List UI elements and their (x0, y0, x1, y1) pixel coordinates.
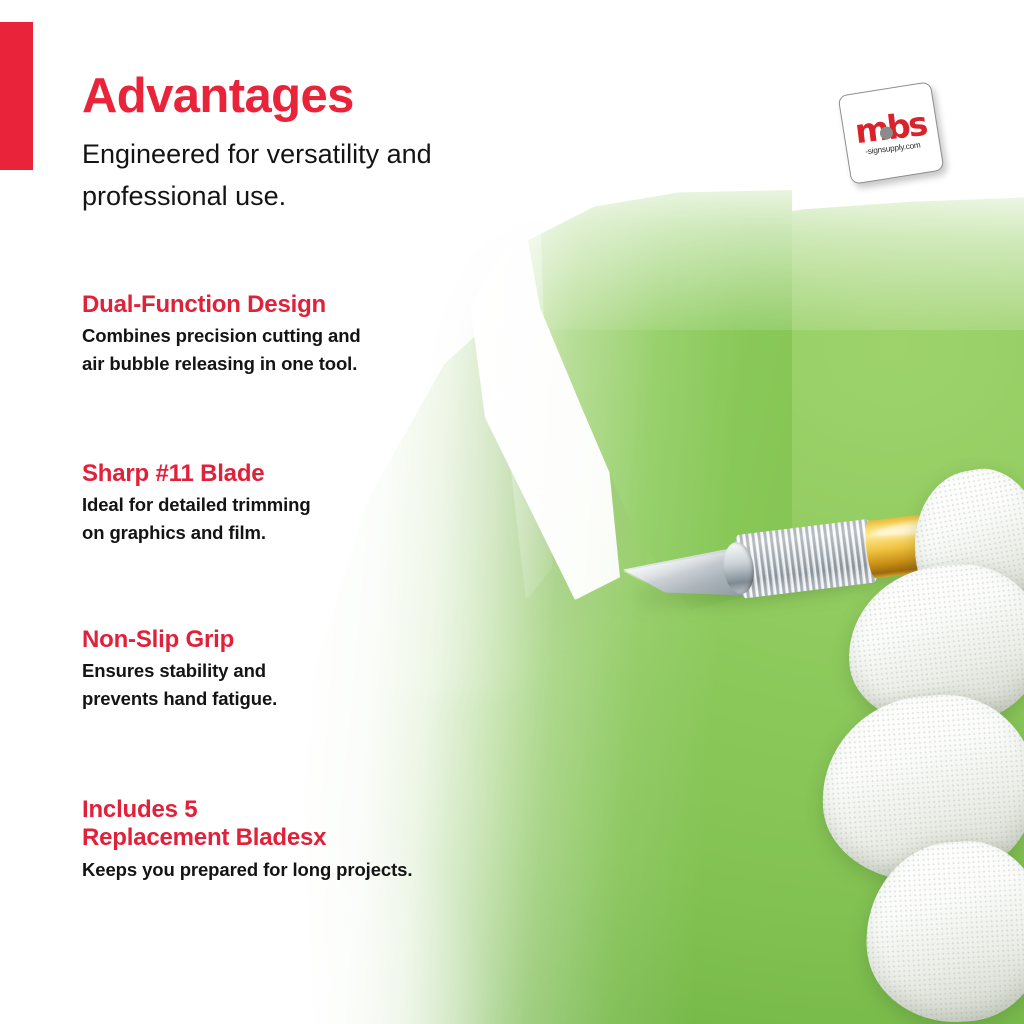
feature-title: Includes 5 Replacement Bladesx (82, 796, 512, 853)
accent-bar (0, 22, 33, 170)
feature-body: Ensures stability and prevents hand fati… (82, 657, 512, 713)
brand-logo[interactable]: mbs -signsupply.com (838, 81, 945, 185)
feature-title: Non-Slip Grip (82, 626, 512, 654)
content-layer: Advantages Engineered for versatility an… (0, 0, 1024, 1024)
marketing-graphic-canvas: Advantages Engineered for versatility an… (0, 0, 1024, 1024)
feature-body: Keeps you prepared for long projects. (82, 856, 512, 884)
feature-block-sharp-11-blade: Sharp #11 Blade Ideal for detailed trimm… (82, 460, 512, 547)
brand-logo-inner: mbs -signsupply.com (840, 84, 942, 183)
feature-body: Combines precision cutting and air bubbl… (82, 322, 512, 378)
feature-title: Dual-Function Design (82, 291, 512, 319)
page-title: Advantages (82, 72, 354, 121)
feature-block-non-slip-grip: Non-Slip Grip Ensures stability and prev… (82, 626, 512, 713)
feature-title: Sharp #11 Blade (82, 460, 512, 488)
feature-block-includes-replacement-blades: Includes 5 Replacement Bladesx Keeps you… (82, 796, 512, 883)
feature-block-dual-function-design: Dual-Function Design Combines precision … (82, 291, 512, 378)
page-subtitle: Engineered for versatility and professio… (82, 134, 512, 218)
feature-body: Ideal for detailed trimming on graphics … (82, 491, 512, 547)
brand-logo-mark: mbs (853, 109, 927, 146)
